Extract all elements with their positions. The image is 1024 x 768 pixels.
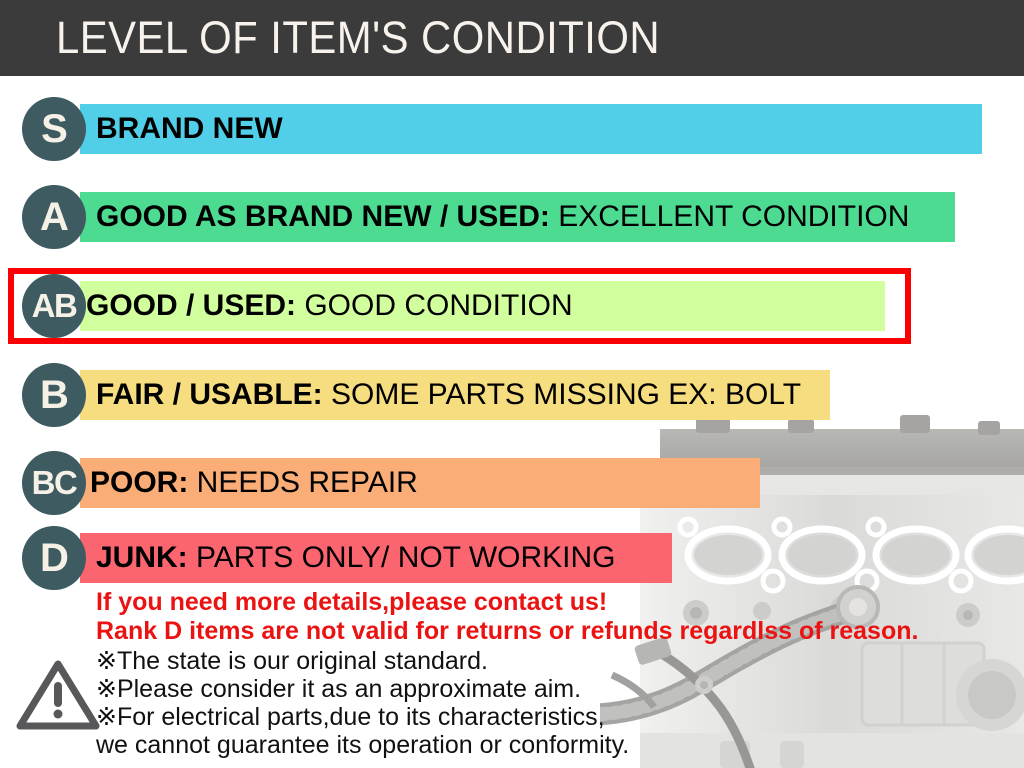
note-approximate-aim: ※Please consider it as an approximate ai… — [96, 675, 581, 703]
page-header: LEVEL OF ITEM'S CONDITION — [0, 0, 1024, 76]
rank-label-strong: POOR: — [90, 466, 188, 499]
notice-rank-d-no-returns: Rank D items are not valid for returns o… — [96, 617, 918, 645]
rank-badge-d: D — [22, 526, 86, 590]
page-title: LEVEL OF ITEM'S CONDITION — [56, 14, 660, 62]
rank-label-a: GOOD AS BRAND NEW / USED: EXCELLENT COND… — [96, 192, 909, 242]
rank-label-strong: BRAND NEW — [96, 112, 283, 145]
highlight-box-ab — [8, 268, 911, 344]
warning-triangle-icon — [16, 658, 100, 730]
rank-label-strong: FAIR / USABLE: — [96, 378, 323, 411]
note-original-standard: ※The state is our original standard. — [96, 647, 488, 675]
rank-badge-s: S — [22, 97, 86, 161]
rank-label-strong: JUNK: — [96, 541, 188, 574]
rank-label-normal: SOME PARTS MISSING EX: BOLT — [323, 378, 801, 411]
note-electrical-parts: ※For electrical parts,due to its charact… — [96, 703, 605, 731]
rank-label-normal: NEEDS REPAIR — [188, 466, 418, 499]
rank-label-normal: PARTS ONLY/ NOT WORKING — [188, 541, 616, 574]
notice-contact-us: If you need more details,please contact … — [96, 588, 607, 616]
rank-label-normal: EXCELLENT CONDITION — [550, 200, 910, 233]
rank-badge-a: A — [22, 185, 86, 249]
rank-badge-b: B — [22, 363, 86, 427]
rank-badge-bc: BC — [22, 451, 86, 515]
condition-grade-chart: LEVEL OF ITEM'S CONDITION — [0, 0, 1024, 768]
rank-label-s: BRAND NEW — [96, 104, 283, 154]
rank-label-d: JUNK: PARTS ONLY/ NOT WORKING — [96, 533, 616, 583]
rank-label-bc: POOR: NEEDS REPAIR — [90, 458, 418, 508]
note-no-guarantee: we cannot guarantee its operation or con… — [96, 731, 629, 759]
rank-label-strong: GOOD AS BRAND NEW / USED: — [96, 200, 550, 233]
rank-label-b: FAIR / USABLE: SOME PARTS MISSING EX: BO… — [96, 370, 801, 420]
